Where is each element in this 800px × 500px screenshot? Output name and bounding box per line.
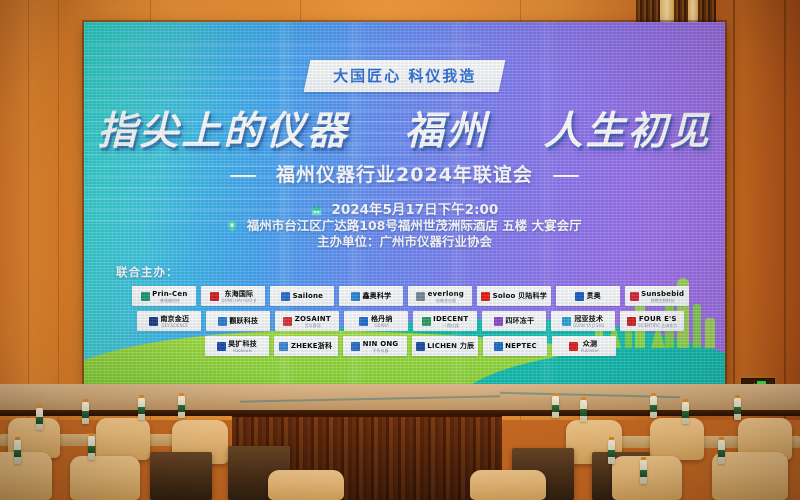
sponsor-logo: 冠亚技术GUAN YA JI SHU bbox=[551, 311, 615, 331]
bottle-cap bbox=[609, 437, 614, 440]
chair bbox=[96, 418, 150, 460]
sponsor-logo: 颧跃科技 bbox=[206, 311, 270, 331]
sponsor-logo-grid: Prin-Cen普瑞森科技东海国际DONG HAI GUO JISailone鑫… bbox=[110, 286, 711, 361]
water-bottle bbox=[178, 396, 185, 418]
bottle-label bbox=[580, 409, 587, 416]
sponsor-logo-name: 颧跃科技 bbox=[229, 317, 258, 325]
sponsor-logo-mark-icon bbox=[283, 317, 292, 326]
tagline-badge: 大国匠心 科仪我造 bbox=[303, 60, 505, 92]
sponsor-logo-name: LICHEN 力辰 bbox=[427, 342, 474, 350]
headline-part-2: 福州 bbox=[404, 109, 488, 154]
water-bottle bbox=[138, 398, 145, 420]
water-bottle bbox=[718, 440, 725, 464]
sponsor-logo-mark-icon bbox=[279, 342, 288, 351]
sponsor-logo-name: 众测Pulmeter bbox=[581, 340, 599, 353]
sponsor-logo-mark-icon bbox=[149, 317, 158, 326]
bottle-cap bbox=[179, 393, 184, 396]
bottle-cap bbox=[15, 437, 20, 440]
wall-seam bbox=[58, 0, 59, 420]
sponsor-logo: 众测Pulmeter bbox=[552, 336, 616, 356]
sponsor-logo: Sailone bbox=[270, 286, 334, 306]
event-address-line: 福州市台江区广达路108号福州世茂洲际酒店 五楼 大宴会厅 bbox=[84, 218, 725, 234]
sponsor-logo-subtitle: 赛鼎生物科技 bbox=[641, 298, 684, 303]
sponsor-logo: IDECENT一鼎仪器 bbox=[413, 311, 477, 331]
water-bottle bbox=[82, 402, 89, 424]
sponsor-logo-name: 冠亚技术GUAN YA JI SHU bbox=[573, 315, 604, 328]
wall-door-edge bbox=[733, 0, 735, 420]
subtitle-rule-left bbox=[230, 175, 256, 177]
bottle-cap bbox=[683, 399, 688, 402]
bottle-label bbox=[14, 450, 21, 457]
event-subtitle: 福州仪器行业2024年联谊会 bbox=[84, 160, 725, 187]
sponsor-logo-name: everlong埃佛龙仪器 bbox=[428, 290, 464, 303]
sponsor-logo-name: Sunsbebid赛鼎生物科技 bbox=[641, 290, 684, 303]
bottle-label bbox=[36, 417, 43, 424]
sponsor-logo-mark-icon bbox=[416, 292, 425, 301]
sponsor-logo-subtitle: 宁东仪器 bbox=[363, 348, 399, 353]
water-bottle bbox=[88, 436, 95, 460]
event-address-text: 福州市台江区广达路108号福州世茂洲际酒店 五楼 大宴会厅 bbox=[247, 218, 582, 233]
sponsor-logo-name: 贯奥 bbox=[586, 292, 600, 300]
chair bbox=[470, 470, 546, 500]
sponsor-logo: 鑫奥科学 bbox=[339, 286, 403, 306]
event-datetime-text: 2024年5月17日下午2:00 bbox=[331, 202, 498, 218]
tagline-badge-wrap: 大国匠心 科仪我造 bbox=[84, 60, 725, 92]
bottle-cap bbox=[641, 457, 646, 460]
wall-door-edge bbox=[784, 0, 786, 420]
bottle-cap bbox=[139, 395, 144, 398]
bottle-cap bbox=[719, 437, 724, 440]
sponsor-logo-mark-icon bbox=[575, 292, 584, 301]
sponsor-logo: Sunsbebid赛鼎生物科技 bbox=[625, 286, 689, 306]
sponsor-logo-name: Soloo 贝陆科学 bbox=[493, 292, 547, 300]
sponsor-logo-subtitle: GDANA bbox=[371, 323, 393, 328]
sponsor-logo-name: NEPTEC bbox=[505, 342, 537, 350]
screenshot-root: 大国匠心 科仪我造 指尖上的仪器 福州 人生初见 福州仪器行业2024年联谊会 bbox=[0, 0, 800, 500]
headline-part-3: 人生初见 bbox=[544, 109, 712, 154]
sponsor-logo-name: Sailone bbox=[293, 292, 324, 300]
subtitle-rule-right bbox=[553, 175, 579, 177]
chair bbox=[268, 470, 344, 500]
chair bbox=[650, 418, 704, 460]
sponsor-logo: FOUR E'SSCIENTIFIC 五洲东方 bbox=[620, 311, 684, 331]
sponsor-logo-row: Prin-Cen普瑞森科技东海国际DONG HAI GUO JISailone鑫… bbox=[110, 286, 711, 306]
water-bottle bbox=[650, 396, 657, 418]
sponsor-logo-mark-icon bbox=[141, 292, 150, 301]
calendar-icon bbox=[311, 205, 322, 216]
sponsor-logo-name: ZHEKE浙科 bbox=[291, 342, 332, 350]
event-headline: 指尖上的仪器 福州 人生初见 bbox=[84, 100, 725, 156]
sponsor-logo-subtitle: Pulmeter bbox=[581, 348, 599, 353]
bottle-label bbox=[608, 450, 615, 457]
screen-content: 大国匠心 科仪我造 指尖上的仪器 福州 人生初见 福州仪器行业2024年联谊会 bbox=[84, 22, 725, 384]
water-bottle bbox=[640, 460, 647, 484]
bottle-label bbox=[734, 407, 741, 414]
sponsor-logo: NIN ONG宁东仪器 bbox=[343, 336, 407, 356]
sponsor-logo: 南京金迈GEY-SCIENCE bbox=[137, 311, 201, 331]
sponsor-logo-mark-icon bbox=[569, 342, 578, 351]
bottle-label bbox=[178, 405, 185, 412]
sponsor-logo: ZHEKE浙科 bbox=[274, 336, 338, 356]
sponsor-logo: everlong埃佛龙仪器 bbox=[408, 286, 472, 306]
headline-part-1: 指尖上的仪器 bbox=[97, 109, 349, 154]
sponsor-logo-mark-icon bbox=[422, 317, 431, 326]
sponsor-logo: 四环冻干 bbox=[482, 311, 546, 331]
sponsor-logo-name: 鑫奥科学 bbox=[362, 292, 391, 300]
sponsor-logo-mark-icon bbox=[630, 292, 639, 301]
sponsor-logo: ZOSAINT百众赛冠 bbox=[275, 311, 339, 331]
water-bottle bbox=[580, 400, 587, 422]
event-meta: 2024年5月17日下午2:00 福州市台江区广达路108号福州世茂洲际酒店 五… bbox=[84, 202, 725, 250]
sponsor-logo: NEPTEC bbox=[483, 336, 547, 356]
chair bbox=[70, 456, 140, 500]
sponsor-logo-subtitle: 埃佛龙仪器 bbox=[428, 298, 464, 303]
sponsor-logo-row: 南京金迈GEY-SCIENCE颧跃科技ZOSAINT百众赛冠格丹纳GDANAID… bbox=[110, 311, 711, 331]
sponsor-logo-mark-icon bbox=[217, 342, 226, 351]
sponsor-logo-subtitle: 百众赛冠 bbox=[295, 323, 331, 328]
sponsor-logo-name: 四环冻干 bbox=[505, 317, 534, 325]
sponsor-logo-name: Prin-Cen普瑞森科技 bbox=[152, 290, 187, 303]
sponsor-logo-name: FOUR E'SSCIENTIFIC 五洲东方 bbox=[638, 315, 677, 328]
sponsor-logo-subtitle: GUAN YA JI SHU bbox=[573, 323, 604, 328]
bottle-cap bbox=[735, 395, 740, 398]
sponsor-logo-subtitle: 普瑞森科技 bbox=[152, 298, 187, 303]
sponsor-logo-mark-icon bbox=[351, 292, 360, 301]
sponsor-logo: 格丹纳GDANA bbox=[344, 311, 408, 331]
bottle-label bbox=[718, 450, 725, 457]
event-datetime-line: 2024年5月17日下午2:00 bbox=[84, 202, 725, 218]
sponsor-logo-name: ZOSAINT百众赛冠 bbox=[295, 315, 331, 328]
sponsor-logo-subtitle: GEY-SCIENCE bbox=[160, 323, 189, 328]
sponsor-logo-name: 昊扩科技Haokewei bbox=[228, 340, 257, 353]
sponsor-logo-subtitle: DONG HAI GUO JI bbox=[222, 298, 257, 303]
sponsor-logo: 贯奥 bbox=[556, 286, 620, 306]
water-bottle bbox=[682, 402, 689, 424]
bottle-cap bbox=[89, 433, 94, 436]
bottle-cap bbox=[553, 393, 558, 396]
sponsor-logo-mark-icon bbox=[481, 292, 490, 301]
sponsor-logo-mark-icon bbox=[562, 317, 571, 326]
bottle-label bbox=[640, 470, 647, 477]
event-organizer-text: 主办单位：广州市仪器行业协会 bbox=[317, 234, 492, 249]
sponsor-logo-subtitle: Haokewei bbox=[228, 348, 257, 353]
event-organizer-line: 主办单位：广州市仪器行业协会 bbox=[84, 234, 725, 250]
sponsor-logo-name: 东海国际DONG HAI GUO JI bbox=[222, 290, 257, 303]
wall-seam bbox=[28, 0, 29, 420]
bottle-label bbox=[88, 446, 95, 453]
sponsor-logo-subtitle: SCIENTIFIC 五洲东方 bbox=[638, 323, 677, 328]
sponsor-logo: Prin-Cen普瑞森科技 bbox=[132, 286, 196, 306]
sponsor-logo-name: IDECENT一鼎仪器 bbox=[433, 315, 468, 328]
sponsor-logo-mark-icon bbox=[359, 317, 368, 326]
sponsor-logo-mark-icon bbox=[218, 317, 227, 326]
water-bottle bbox=[608, 440, 615, 464]
sponsor-logo-mark-icon bbox=[210, 292, 219, 301]
sponsor-logo-name: NIN ONG宁东仪器 bbox=[363, 340, 399, 353]
sponsor-logo: 东海国际DONG HAI GUO JI bbox=[201, 286, 265, 306]
bottle-cap bbox=[83, 399, 88, 402]
tagline-text: 大国匠心 科仪我造 bbox=[333, 65, 476, 86]
sponsor-logo-subtitle: 一鼎仪器 bbox=[433, 323, 468, 328]
water-bottle bbox=[36, 408, 43, 430]
chair bbox=[612, 456, 682, 500]
sponsor-logo-mark-icon bbox=[281, 292, 290, 301]
sponsor-logo-name: 格丹纳GDANA bbox=[371, 315, 393, 328]
bottle-label bbox=[650, 405, 657, 412]
sponsor-logo-mark-icon bbox=[494, 317, 503, 326]
sponsor-logo: Soloo 贝陆科学 bbox=[477, 286, 551, 306]
conference-table bbox=[150, 452, 212, 500]
bottle-label bbox=[682, 411, 689, 418]
subtitle-text: 福州仪器行业2024年联谊会 bbox=[276, 164, 533, 186]
sponsor-logo: LICHEN 力辰 bbox=[412, 336, 478, 356]
bottle-label bbox=[138, 407, 145, 414]
sponsor-logo-row: 昊扩科技HaokeweiZHEKE浙科NIN ONG宁东仪器LICHEN 力辰N… bbox=[110, 336, 711, 356]
bottle-label bbox=[552, 405, 559, 412]
bottle-label bbox=[82, 411, 89, 418]
location-pin-icon bbox=[227, 221, 237, 232]
sponsor-logo-name: 南京金迈GEY-SCIENCE bbox=[160, 315, 189, 328]
sponsor-logo-mark-icon bbox=[494, 342, 503, 351]
sponsor-logo: 昊扩科技Haokewei bbox=[205, 336, 269, 356]
bottle-cap bbox=[581, 397, 586, 400]
co-hosts-label: 联合主办： bbox=[116, 264, 179, 280]
sponsor-logo-mark-icon bbox=[351, 342, 360, 351]
sponsor-logo-mark-icon bbox=[416, 342, 425, 351]
water-bottle bbox=[552, 396, 559, 418]
bottle-cap bbox=[37, 405, 42, 408]
water-bottle bbox=[734, 398, 741, 420]
water-bottle bbox=[14, 440, 21, 464]
led-stage-screen: 大国匠心 科仪我造 指尖上的仪器 福州 人生初见 福州仪器行业2024年联谊会 bbox=[84, 22, 725, 384]
bottle-cap bbox=[651, 393, 656, 396]
sponsor-logo-mark-icon bbox=[627, 317, 636, 326]
chair bbox=[0, 452, 52, 500]
